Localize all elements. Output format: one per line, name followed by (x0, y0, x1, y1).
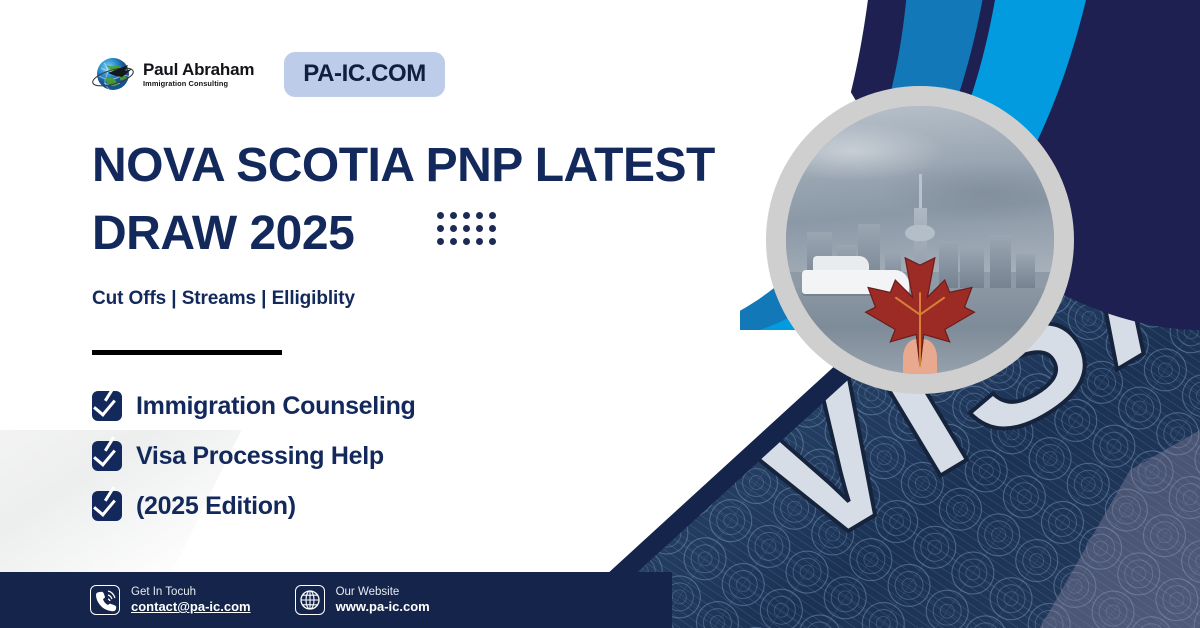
divider-rule (92, 350, 282, 355)
maple-leaf-icon (858, 243, 982, 369)
checkbox-checked-icon (92, 491, 122, 521)
website-badge[interactable]: PA-IC.COM (284, 52, 445, 97)
list-item: Visa Processing Help (92, 431, 416, 481)
cn-tower-pod (905, 225, 935, 241)
list-item: Immigration Counseling (92, 381, 416, 431)
list-item: (2025 Edition) (92, 481, 416, 531)
poster-canvas: THE UNITED STATES OF AMERICA THE UNITED … (0, 0, 1200, 628)
footer-website[interactable]: Our Website www.pa-ic.com (295, 585, 430, 615)
checkbox-checked-icon (92, 391, 122, 421)
footer-website-url[interactable]: www.pa-ic.com (336, 599, 430, 614)
dot-grid-decoration (437, 212, 502, 251)
checklist-label: Immigration Counseling (136, 392, 416, 421)
feature-checklist: Immigration Counseling Visa Processing H… (92, 381, 416, 531)
globe-icon (295, 585, 325, 615)
page-subtitle: Cut Offs | Streams | Elligiblity (92, 288, 355, 310)
footer-contact-label: Get In Tocuh (131, 586, 251, 600)
cn-tower-spire (919, 174, 922, 208)
checkbox-checked-icon (92, 441, 122, 471)
checklist-label: (2025 Edition) (136, 492, 296, 521)
hero-photo-toronto-skyline (786, 106, 1054, 374)
footer-bar: Get In Tocuh contact@pa-ic.com Our Websi… (0, 572, 672, 628)
footer-website-label: Our Website (336, 586, 430, 600)
brand-bar: Paul Abraham Immigration Consulting PA-I… (92, 52, 445, 97)
checklist-label: Visa Processing Help (136, 442, 384, 471)
footer-contact-email[interactable]: contact@pa-ic.com (131, 599, 251, 614)
globe-airplane-icon (92, 53, 136, 97)
logo-company-name: Paul Abraham (143, 61, 254, 78)
footer-contact[interactable]: Get In Tocuh contact@pa-ic.com (90, 585, 251, 615)
logo[interactable]: Paul Abraham Immigration Consulting (92, 53, 254, 97)
logo-tagline: Immigration Consulting (143, 80, 254, 87)
phone-icon (90, 585, 120, 615)
